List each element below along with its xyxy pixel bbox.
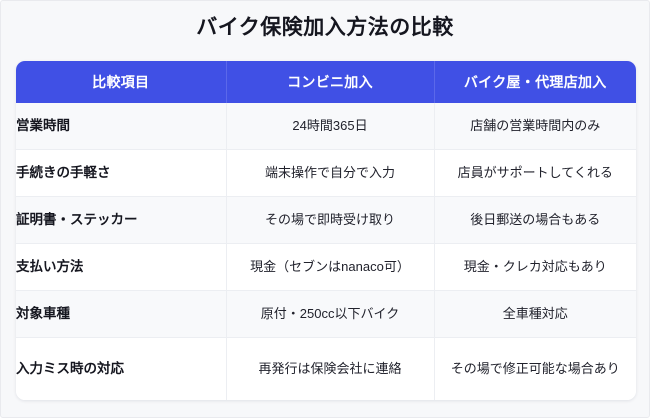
cell-konbini: 24時間365日	[226, 103, 434, 150]
cell-konbini: 現金（セブンはnanaco可）	[226, 244, 434, 291]
table-row: 証明書・ステッカー その場で即時受け取り 後日郵送の場合もある	[16, 197, 636, 244]
cell-shop: 後日郵送の場合もある	[434, 197, 636, 244]
table-body: 営業時間 24時間365日 店舗の営業時間内のみ 手続きの手軽さ 端末操作で自分…	[16, 103, 636, 400]
row-label: 入力ミス時の対応	[16, 338, 226, 401]
row-label: 支払い方法	[16, 244, 226, 291]
row-label: 営業時間	[16, 103, 226, 150]
table-row: 支払い方法 現金（セブンはnanaco可） 現金・クレカ対応もあり	[16, 244, 636, 291]
comparison-table-wrapper: 比較項目 コンビニ加入 バイク屋・代理店加入 営業時間 24時間365日 店舗の…	[16, 61, 636, 400]
column-header-shop: バイク屋・代理店加入	[434, 61, 636, 103]
cell-shop: 店員がサポートしてくれる	[434, 150, 636, 197]
comparison-table: 比較項目 コンビニ加入 バイク屋・代理店加入 営業時間 24時間365日 店舗の…	[16, 61, 636, 400]
cell-konbini: 再発行は保険会社に連絡	[226, 338, 434, 401]
cell-shop: 全車種対応	[434, 291, 636, 338]
row-label: 手続きの手軽さ	[16, 150, 226, 197]
table-row: 手続きの手軽さ 端末操作で自分で入力 店員がサポートしてくれる	[16, 150, 636, 197]
table-row: 入力ミス時の対応 再発行は保険会社に連絡 その場で修正可能な場合あり	[16, 338, 636, 401]
comparison-card: バイク保険加入方法の比較 比較項目 コンビニ加入 バイク屋・代理店加入 営業時間…	[0, 0, 650, 418]
cell-shop: 現金・クレカ対応もあり	[434, 244, 636, 291]
column-header-konbini: コンビニ加入	[226, 61, 434, 103]
page-title: バイク保険加入方法の比較	[1, 1, 649, 43]
table-header: 比較項目 コンビニ加入 バイク屋・代理店加入	[16, 61, 636, 103]
cell-konbini: 原付・250cc以下バイク	[226, 291, 434, 338]
table-row: 対象車種 原付・250cc以下バイク 全車種対応	[16, 291, 636, 338]
column-header-item: 比較項目	[16, 61, 226, 103]
cell-shop: その場で修正可能な場合あり	[434, 338, 636, 401]
cell-konbini: 端末操作で自分で入力	[226, 150, 434, 197]
row-label: 対象車種	[16, 291, 226, 338]
cell-shop: 店舗の営業時間内のみ	[434, 103, 636, 150]
table-row: 営業時間 24時間365日 店舗の営業時間内のみ	[16, 103, 636, 150]
row-label: 証明書・ステッカー	[16, 197, 226, 244]
cell-konbini: その場で即時受け取り	[226, 197, 434, 244]
table-header-row: 比較項目 コンビニ加入 バイク屋・代理店加入	[16, 61, 636, 103]
